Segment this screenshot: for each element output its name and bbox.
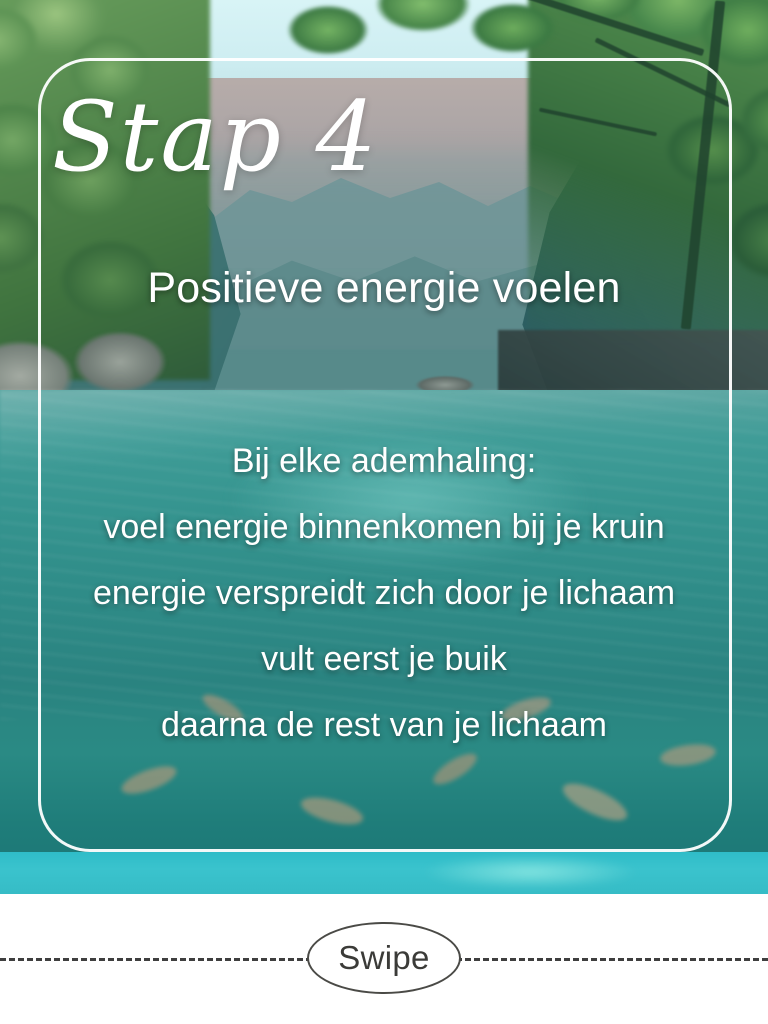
- body-line-3: energie verspreidt zich door je lichaam: [0, 560, 768, 626]
- body-line-1: Bij elke ademhaling:: [0, 428, 768, 494]
- slide-page: Stap 4 Positieve energie voelen Bij elke…: [0, 0, 768, 1024]
- footer-bar: Swipe: [0, 894, 768, 1024]
- swipe-label: Swipe: [338, 939, 429, 977]
- step-title: Stap 4: [52, 72, 472, 222]
- body-text: Bij elke ademhaling: voel energie binnen…: [0, 428, 768, 758]
- water-bright-glow: [380, 850, 680, 894]
- body-line-5: daarna de rest van je lichaam: [0, 692, 768, 758]
- page-title: Positieve energie voelen: [0, 264, 768, 313]
- dashed-line-right: [456, 958, 768, 961]
- dashed-line-left: [0, 958, 312, 961]
- body-line-2: voel energie binnenkomen bij je kruin: [0, 494, 768, 560]
- swipe-button[interactable]: Swipe: [307, 922, 461, 994]
- body-line-4: vult eerst je buik: [0, 626, 768, 692]
